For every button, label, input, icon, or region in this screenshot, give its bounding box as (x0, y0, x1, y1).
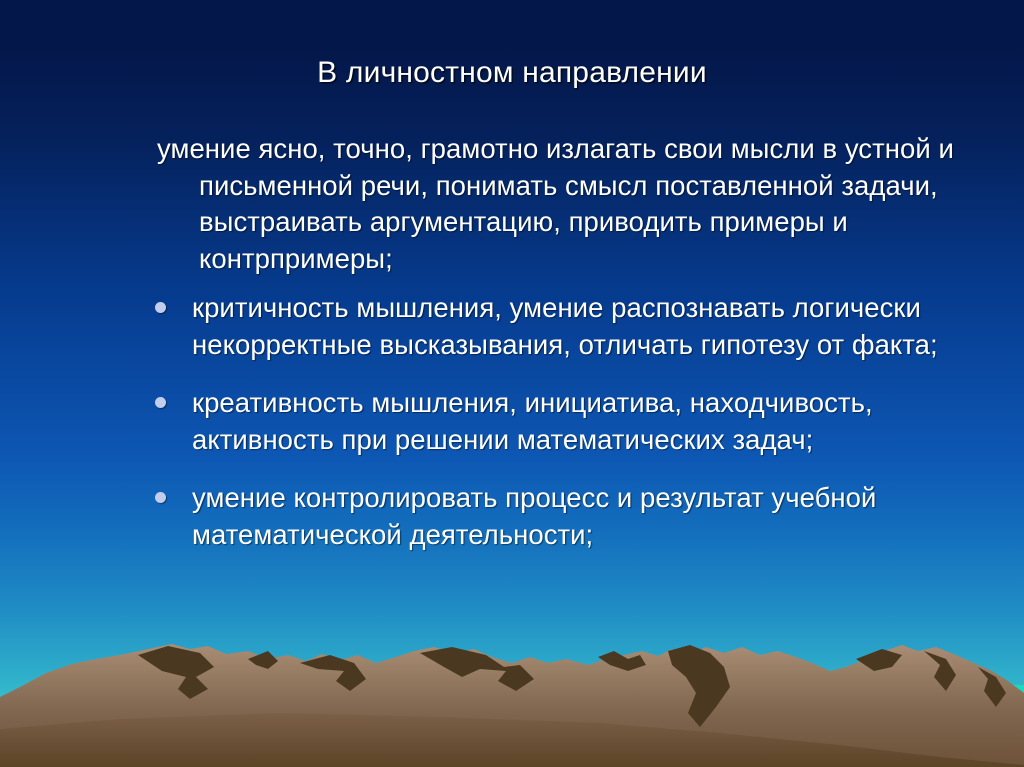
bullet-item-1: критичность мышления, умение распознават… (150, 290, 962, 363)
mountain-ridge-main (0, 644, 1024, 767)
bullet-dot-icon (155, 302, 166, 313)
mountain-landscape-graphic (0, 637, 1024, 767)
bullet-item-1-text: критичность мышления, умение распознават… (192, 292, 938, 360)
bullet-item-2-text: креативность мышления, инициатива, наход… (192, 387, 873, 455)
bullet-item-3-text: умение контролировать процесс и результа… (192, 482, 876, 550)
slide-title: В личностном направлении (0, 55, 1024, 91)
presentation-slide: В личностном направлении умение ясно, то… (0, 0, 1024, 767)
bullet-dot-icon (155, 397, 166, 408)
bullet-dot-icon (155, 492, 166, 503)
paragraph-intro-text: умение ясно, точно, грамотно излагать св… (157, 131, 962, 277)
slide-body: умение ясно, точно, грамотно излагать св… (150, 131, 962, 553)
bullet-item-2: креативность мышления, инициатива, наход… (150, 385, 962, 458)
mountain-foreground-base (0, 713, 1024, 767)
paragraph-intro: умение ясно, точно, грамотно излагать св… (150, 131, 962, 277)
mountain-shadow-facets (138, 645, 1006, 727)
bullet-item-3: умение контролировать процесс и результа… (150, 480, 962, 553)
teal-accent-patch (828, 685, 1024, 767)
